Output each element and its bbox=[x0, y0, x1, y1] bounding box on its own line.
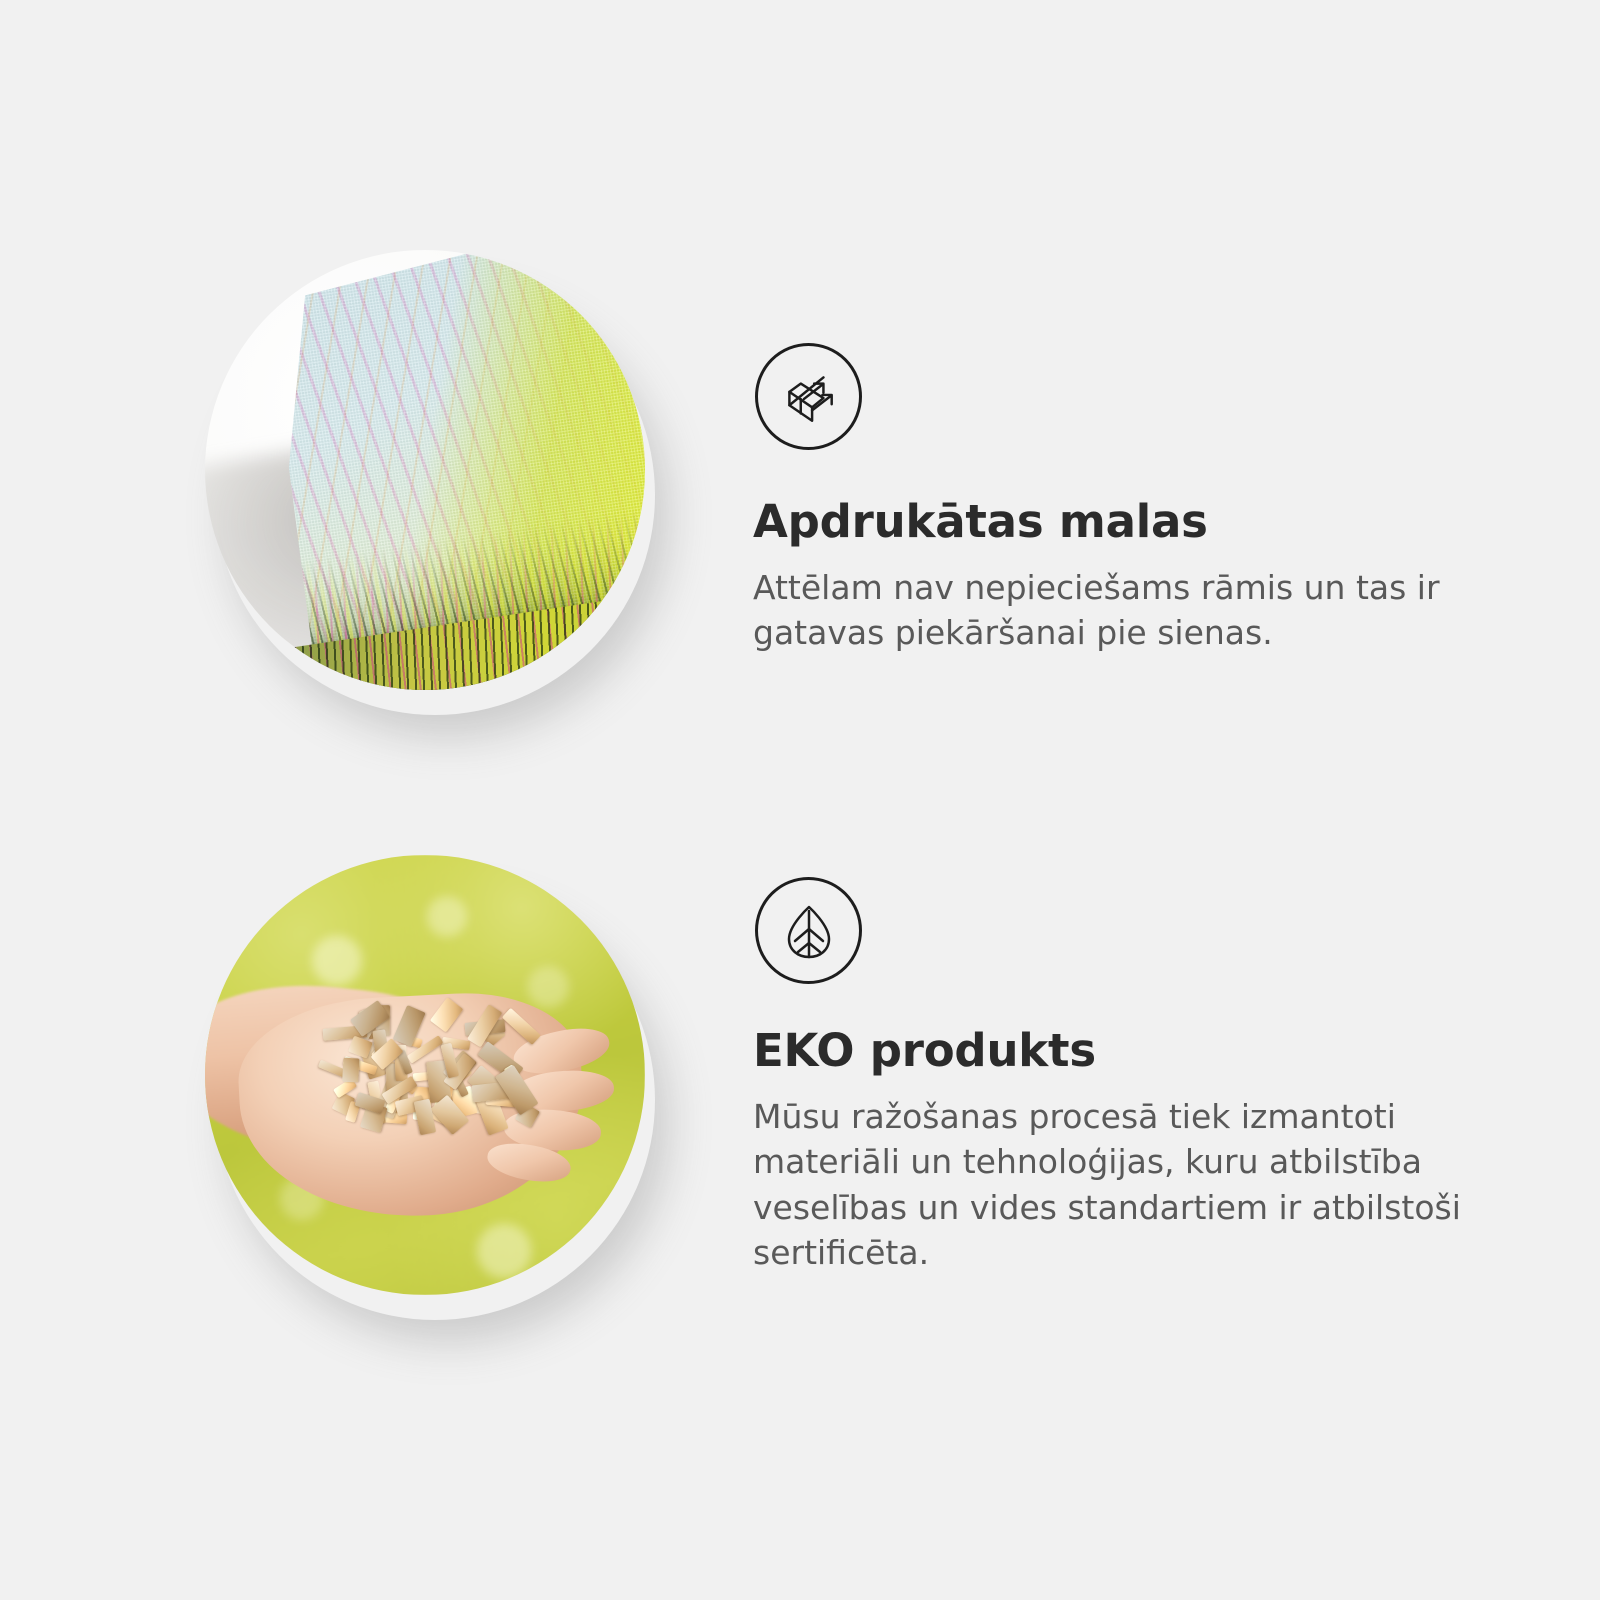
feature-list-page: Apdrukātas malas Attēlam nav nepieciešam… bbox=[0, 0, 1600, 1600]
feature-block-eco-product: EKO produkts Mūsu ražošanas procesā tiek… bbox=[0, 835, 1600, 1355]
wood-chip bbox=[430, 997, 463, 1032]
wood-chip bbox=[414, 1099, 436, 1135]
feature-description: Mūsu ražošanas procesā tiek izmantoti ma… bbox=[753, 1094, 1469, 1276]
wood-chips-in-hands-photo bbox=[205, 855, 645, 1295]
wood-chip bbox=[342, 1058, 360, 1083]
wood-chip-pile bbox=[311, 991, 557, 1132]
printed-edges-icon bbox=[755, 343, 862, 450]
leaf-icon bbox=[755, 877, 862, 984]
feature-info-eco-product: EKO produkts Mūsu ražošanas procesā tiek… bbox=[753, 877, 1473, 1276]
canvas-corner-photo bbox=[205, 250, 645, 690]
feature-title: EKO produkts bbox=[753, 1026, 1473, 1076]
wood-chip bbox=[502, 1008, 541, 1045]
feature-title: Apdrukātas malas bbox=[753, 497, 1473, 547]
feature-description: Attēlam nav nepieciešams rāmis un tas ir… bbox=[753, 565, 1469, 656]
feature-block-printed-edges: Apdrukātas malas Attēlam nav nepieciešam… bbox=[0, 230, 1600, 750]
feature-info-printed-edges: Apdrukātas malas Attēlam nav nepieciešam… bbox=[753, 343, 1473, 656]
